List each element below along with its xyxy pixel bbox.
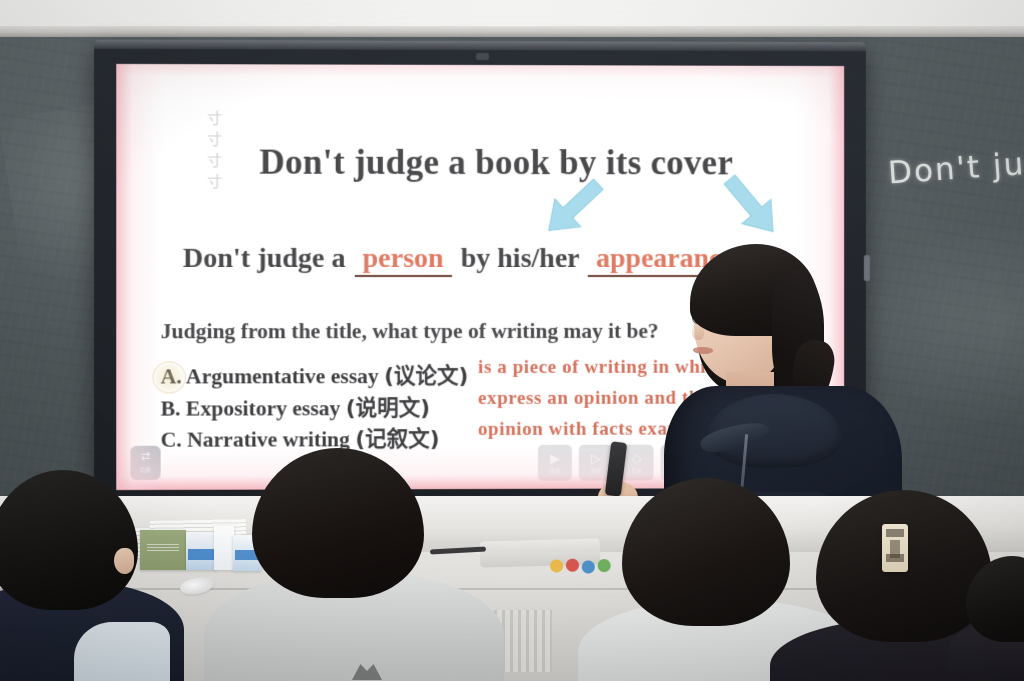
option-a-chinese: (议论文) xyxy=(384,364,468,389)
option-b[interactable]: B. Expository essay (说明文) xyxy=(161,393,469,425)
option-a-letter: A. xyxy=(161,364,182,388)
blank-person: person xyxy=(355,243,452,277)
toolbar-play-button[interactable]: ▶ 播放 xyxy=(538,445,572,481)
cursor-icon: ▷ xyxy=(591,451,601,464)
student-far-left-ear xyxy=(114,548,134,574)
student-left-center xyxy=(240,448,470,681)
camera-icon xyxy=(476,53,489,60)
subtitle-before: Don't judge a xyxy=(183,243,346,274)
student-left-center-head xyxy=(252,448,424,598)
student-far-left-shirt xyxy=(74,622,170,681)
teacher-lips xyxy=(693,347,713,354)
hair-clip-bar xyxy=(890,540,900,558)
toolbar-cursor-label: 选择 xyxy=(590,466,601,474)
student-far-left xyxy=(0,470,172,681)
student-right-center-head xyxy=(622,478,790,626)
toolbar-shape-label: 形状 xyxy=(631,466,642,474)
subtitle-middle: by his/her xyxy=(461,243,579,274)
student-far-right-edge xyxy=(966,556,1024,681)
student-far-left-head xyxy=(0,470,138,610)
blackboard-top-rail xyxy=(0,26,1024,37)
swap-icon: ⇄ xyxy=(141,452,150,463)
option-b-chinese: (说明文) xyxy=(346,396,430,421)
toolbar-play-label: 播放 xyxy=(549,466,560,474)
desk-item-colored-markers xyxy=(548,556,620,576)
play-icon: ▶ xyxy=(550,451,560,464)
student-far-right-head xyxy=(966,556,1024,642)
desk-item-tissue-box xyxy=(186,532,216,570)
option-a-english: Argumentative essay xyxy=(186,364,379,388)
option-b-english: Expository essay xyxy=(186,396,340,420)
slide-options-list: A. Argumentative essay (议论文) B. Exposito… xyxy=(161,361,469,456)
classroom-scene: Don't jud 寸寸寸寸 Don't judge a book by its… xyxy=(0,0,1024,681)
slide-question: Judging from the title, what type of wri… xyxy=(161,319,659,344)
option-a[interactable]: A. Argumentative essay (议论文) xyxy=(161,361,469,393)
option-b-letter: B. xyxy=(161,396,181,420)
desk-item-white-carton xyxy=(214,526,234,570)
smartboard-top-bezel xyxy=(94,40,866,51)
option-c-letter: C. xyxy=(161,428,182,452)
shape-icon: ◇ xyxy=(632,451,642,464)
